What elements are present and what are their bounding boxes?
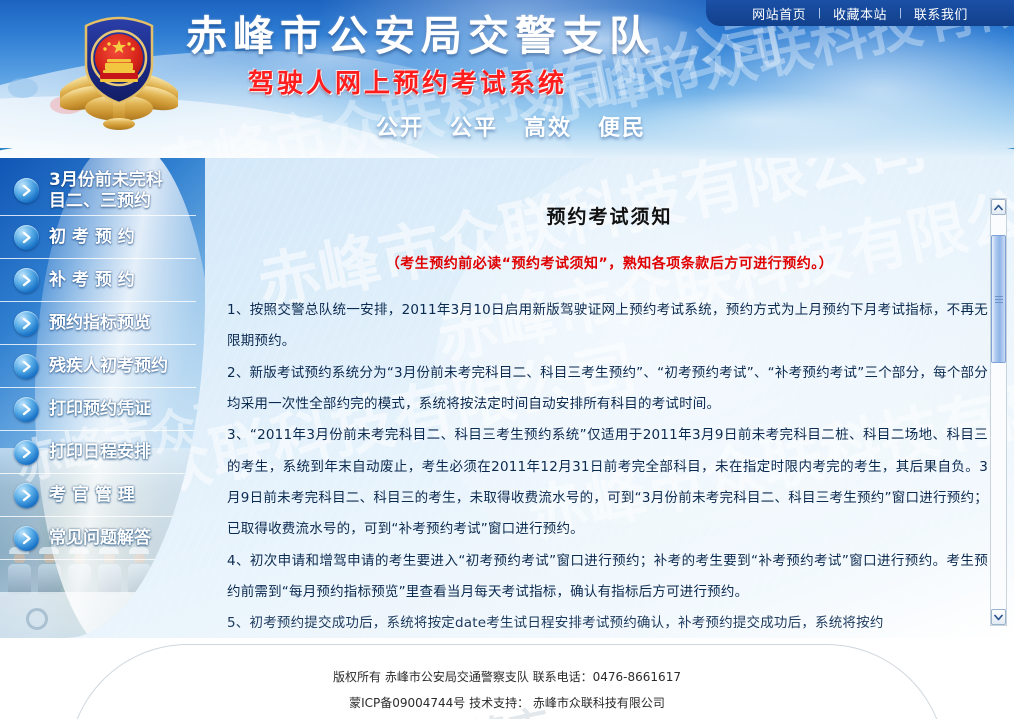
site-footer: 赤峰市 版权所有 赤峰市公安局交通警察支队 联系电话：0476-8661617 … <box>0 638 1014 719</box>
chevron-right-icon <box>14 178 39 203</box>
slogan-word-3: 高效 <box>524 110 572 142</box>
chevron-right-icon <box>14 311 39 336</box>
sidebar-item-label: 考 官 管 理 <box>49 485 135 506</box>
paragraph: 4、初次申请和增驾申请的考生要进入“初考预约考试”窗口进行预约；补考的考生要到“… <box>227 546 988 609</box>
page-title: 预约考试须知 <box>205 202 1014 229</box>
nav-bookmark[interactable]: 收藏本站 <box>821 4 899 23</box>
sidebar-item-print-voucher[interactable]: 打印预约凭证 <box>0 388 196 431</box>
site-title: 赤峰市公安局交警支队 <box>186 14 656 59</box>
slogan-word-4: 便民 <box>598 110 646 142</box>
header-dot-blue <box>8 78 38 98</box>
paragraph: 2、新版考试预约系统分为“3月份前未考完科目二、科目三考生预约”、“初考预约考试… <box>227 358 988 421</box>
paragraph: 3、“2011年3月份前未考完科目二、科目三考生预约系统”仅适用于2011年3月… <box>227 420 988 545</box>
sidebar-item-retake-booking[interactable]: 补 考 预 约 <box>0 259 196 302</box>
sidebar-item-first-exam-booking[interactable]: 初 考 预 约 <box>0 216 196 259</box>
slogan: 公开 公平 高效 便民 <box>376 110 656 142</box>
police-badge-icon <box>60 10 178 132</box>
scrollbar-thumb[interactable] <box>991 235 1006 363</box>
sidebar-item-disabled-first-exam[interactable]: 残疾人初考预约 <box>0 345 196 388</box>
nav-contact[interactable]: 联系我们 <box>902 4 980 23</box>
slogan-word-1: 公开 <box>376 110 424 142</box>
content-paragraphs: 1、按照交警总队统一安排，2011年3月10日启用新版驾驶证网上预约考试系统，预… <box>227 295 988 638</box>
chevron-right-icon <box>14 397 39 422</box>
sidebar-item-label: 残疾人初考预约 <box>49 356 168 377</box>
paragraph: 1、按照交警总队统一安排，2011年3月10日启用新版驾驶证网上预约考试系统，预… <box>227 295 988 358</box>
scroll-down-button[interactable] <box>991 609 1006 625</box>
scroll-up-button[interactable] <box>991 199 1006 215</box>
chevron-right-icon <box>14 268 39 293</box>
sidebar: 赤峰市众联科技有限公司 3月份前未完科 目二、三预约 初 考 预 约 <box>0 158 205 638</box>
sidebar-item-label: 预约指标预览 <box>49 313 151 334</box>
sidebar-item-unfinished-subject23[interactable]: 3月份前未完科 目二、三预约 <box>0 166 196 216</box>
sidebar-item-label: 初 考 预 约 <box>49 227 135 248</box>
page-root: 赤峰市众联科技有限公司 赤峰市众联科技有限公司 网站首页 | 收藏本站 | 联系… <box>0 0 1014 719</box>
nav-home[interactable]: 网站首页 <box>740 4 818 23</box>
sidebar-item-label: 打印预约凭证 <box>49 399 151 420</box>
chevron-right-icon <box>14 440 39 465</box>
sidebar-item-faq[interactable]: 常见问题解答 <box>0 517 196 560</box>
system-title: 驾驶人网上预约考试系统 <box>248 63 656 100</box>
content-scrollbar[interactable] <box>990 198 1007 626</box>
top-navigation: 网站首页 | 收藏本站 | 联系我们 <box>706 0 1014 26</box>
chevron-right-icon <box>14 354 39 379</box>
header-titles: 赤峰市公安局交警支队 驾驶人网上预约考试系统 公开 公平 高效 便民 <box>186 14 656 142</box>
sidebar-patrol-cars-image <box>0 592 205 638</box>
sidebar-item-label: 常见问题解答 <box>49 528 151 549</box>
sidebar-item-print-schedule[interactable]: 打印日程安排 <box>0 431 196 474</box>
sidebar-item-label: 补 考 预 约 <box>49 270 135 291</box>
paragraph: 5、初考预约提交成功后，系统将按定date考生试日程安排考试预约确认，补考预约提… <box>227 608 988 638</box>
sidebar-item-label: 打印日程安排 <box>49 442 151 463</box>
slogan-word-2: 公平 <box>450 110 498 142</box>
sidebar-item-examiner-management[interactable]: 考 官 管 理 <box>0 474 196 517</box>
chevron-right-icon <box>14 526 39 551</box>
scrollbar-grip-icon <box>995 296 1003 303</box>
chevron-right-icon <box>14 483 39 508</box>
content-panel: 预约考试须知 （考生预约前必读“预约考试须知”，熟知各项条款后方可进行预约。） … <box>205 158 1014 638</box>
sidebar-item-quota-preview[interactable]: 预约指标预览 <box>0 302 196 345</box>
footer-copyright: 版权所有 赤峰市公安局交通警察支队 联系电话：0476-8661617 <box>0 668 1014 685</box>
body-area: 赤峰市众联科技有限公司 赤峰市众联科技有限公司 赤峰市众联科技有限公司 赤峰市众… <box>0 158 1014 638</box>
sidebar-item-label: 3月份前未完科 目二、三预约 <box>49 170 163 211</box>
scrollbar-track[interactable] <box>991 215 1006 609</box>
content-notice: （考生预约前必读“预约考试须知”，熟知各项条款后方可进行预约。） <box>205 253 1014 273</box>
chevron-right-icon <box>14 225 39 250</box>
footer-icp-support: 蒙ICP备09004744号 技术支持： 赤峰市众联科技有限公司 <box>0 694 1014 711</box>
sidebar-menu: 3月份前未完科 目二、三预约 初 考 预 约 补 考 预 约 <box>0 166 196 560</box>
